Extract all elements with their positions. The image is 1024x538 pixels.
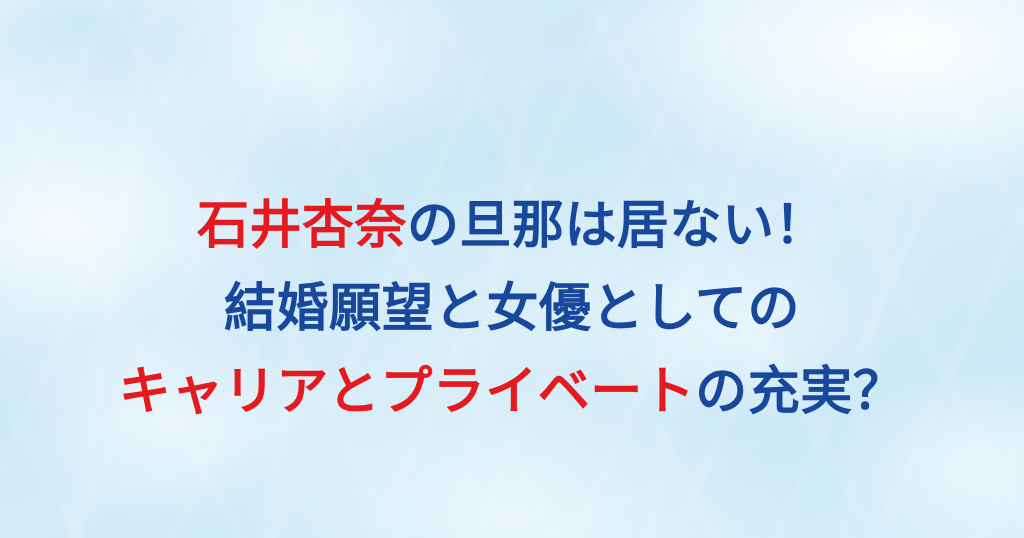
headline-title: 石井杏奈の旦那は居ない！ 結婚願望と女優としての キャリアとプライベートの充実？ [0,185,1024,434]
headline-line-3-emphasis-segment: キャリアとプライベート [119,363,695,421]
headline-line-1: 石井杏奈の旦那は居ない！ [0,185,1024,268]
headline-line-3-rest-segment: の充実？ [695,363,905,421]
headline-line-3: キャリアとプライベートの充実？ [0,351,1024,434]
headline-line-1-name-segment: 石井杏奈 [197,197,407,255]
headline-line-2-segment: 結婚願望と女優としての [224,280,800,338]
headline-line-1-rest-segment: の旦那は居ない！ [407,197,827,255]
headline-line-2: 結婚願望と女優としての [0,268,1024,351]
title-card: 石井杏奈の旦那は居ない！ 結婚願望と女優としての キャリアとプライベートの充実？ [0,0,1024,538]
